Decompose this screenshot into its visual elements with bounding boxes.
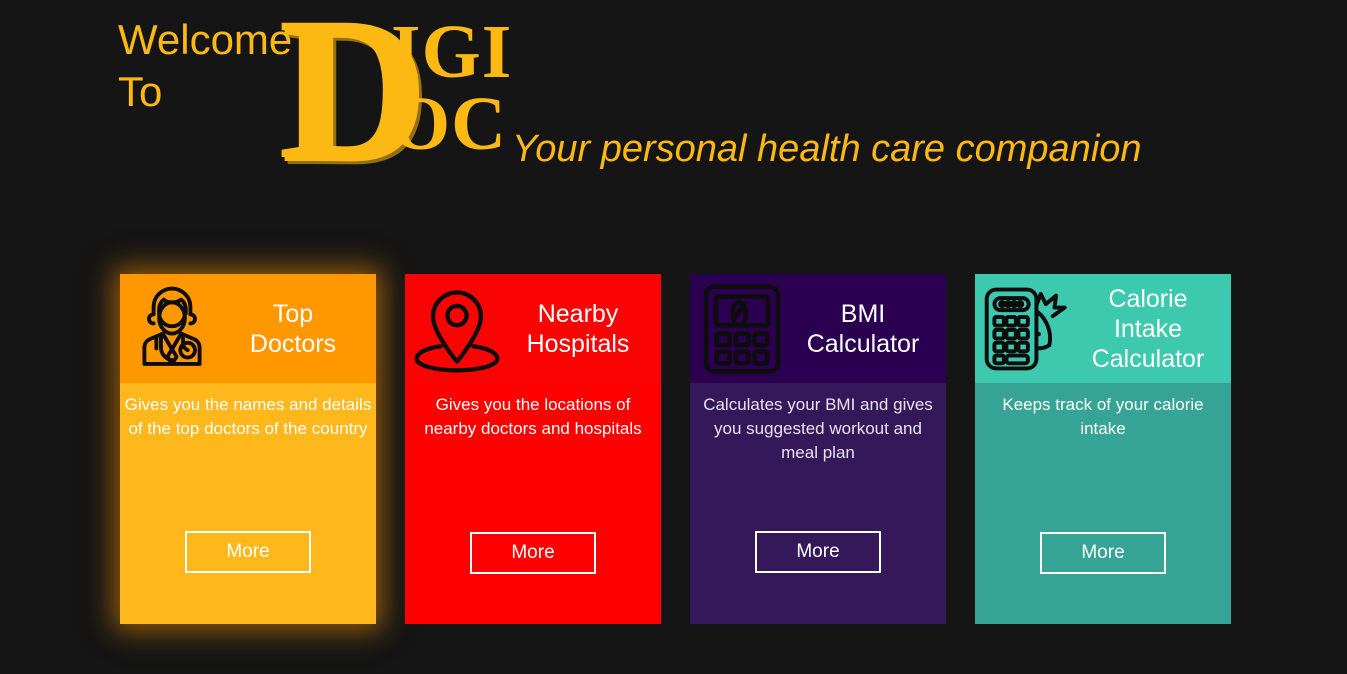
card-body: Gives you the locations of nearby doctor… bbox=[405, 383, 661, 624]
card-nearby-hospitals[interactable]: Nearby Hospitals Gives you the locations… bbox=[405, 274, 661, 624]
calculator-icon bbox=[694, 281, 790, 377]
tagline: Your personal health care companion bbox=[512, 126, 1142, 172]
card-title: BMI Calculator bbox=[790, 299, 940, 359]
card-body: Gives you the names and details of the t… bbox=[120, 383, 376, 624]
app-root: Welcome To D IGI OC Your personal health… bbox=[0, 0, 1347, 674]
card-title: Nearby Hospitals bbox=[505, 299, 655, 359]
card-description: Calculates your BMI and gives you sugges… bbox=[694, 393, 942, 465]
card-header: Top Doctors bbox=[120, 274, 376, 383]
hero-header: Welcome To D IGI OC Your personal health… bbox=[0, 0, 1347, 200]
card-calorie-intake-calculator[interactable]: Calorie Intake Calculator Keeps track of… bbox=[975, 274, 1231, 624]
calculator-carrot-icon bbox=[979, 281, 1075, 377]
card-body: Keeps track of your calorie intake More bbox=[975, 383, 1231, 624]
card-description: Keeps track of your calorie intake bbox=[979, 393, 1227, 441]
card-description: Gives you the names and details of the t… bbox=[124, 393, 372, 441]
feature-card-grid: Top Doctors Gives you the names and deta… bbox=[120, 274, 1232, 624]
card-body: Calculates your BMI and gives you sugges… bbox=[690, 383, 946, 624]
card-title: Top Doctors bbox=[220, 299, 370, 359]
card-header: Nearby Hospitals bbox=[405, 274, 661, 383]
more-button[interactable]: More bbox=[185, 531, 311, 573]
card-header: Calorie Intake Calculator bbox=[975, 274, 1231, 383]
card-header: BMI Calculator bbox=[690, 274, 946, 383]
location-pin-icon bbox=[409, 281, 505, 377]
card-bmi-calculator[interactable]: BMI Calculator Calculates your BMI and g… bbox=[690, 274, 946, 624]
doctor-icon bbox=[124, 281, 220, 377]
logo-line-oc: OC bbox=[391, 92, 512, 157]
more-button[interactable]: More bbox=[1040, 532, 1166, 574]
more-button[interactable]: More bbox=[755, 531, 881, 573]
logo-wordmark: IGI OC bbox=[391, 20, 512, 157]
card-title: Calorie Intake Calculator bbox=[1075, 284, 1225, 374]
card-description: Gives you the locations of nearby doctor… bbox=[409, 393, 657, 441]
card-top-doctors[interactable]: Top Doctors Gives you the names and deta… bbox=[120, 274, 376, 624]
more-button[interactable]: More bbox=[470, 532, 596, 574]
